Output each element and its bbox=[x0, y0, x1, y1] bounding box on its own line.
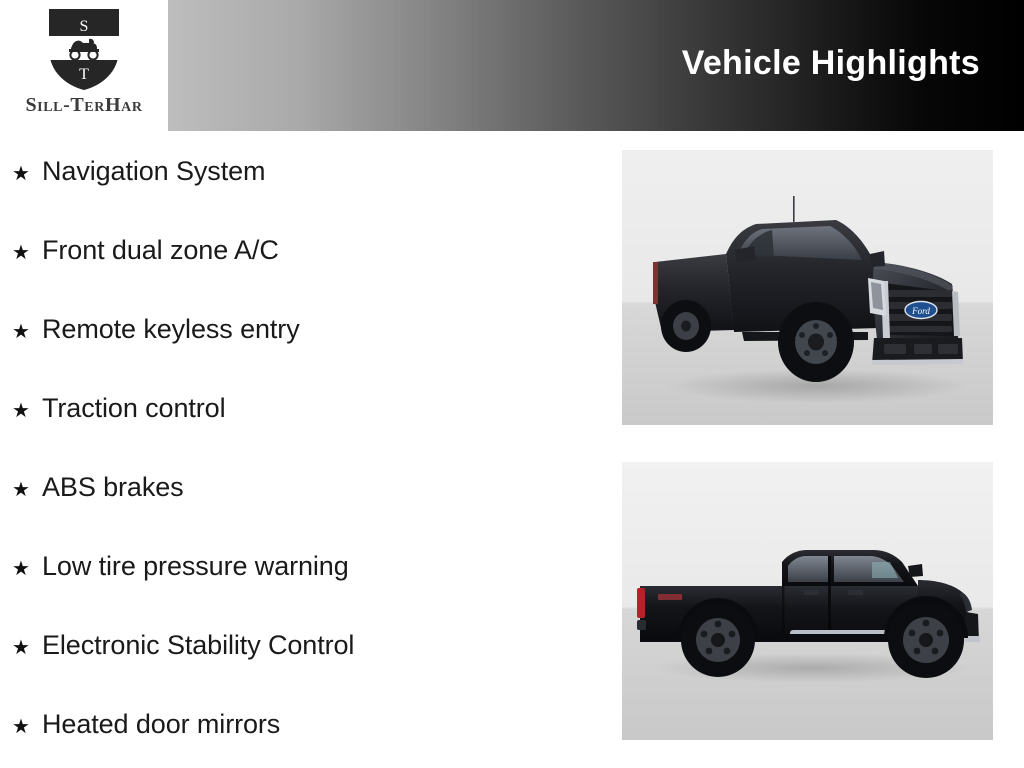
svg-text:T: T bbox=[79, 66, 89, 83]
star-bullet-icon: ★ bbox=[12, 638, 42, 658]
svg-text:Ford: Ford bbox=[911, 306, 930, 316]
truck-side-profile-illustration bbox=[622, 462, 993, 740]
truck-front-quarter-illustration: Ford bbox=[622, 150, 993, 425]
list-item: ★ Navigation System bbox=[12, 158, 265, 188]
wheel-front bbox=[888, 602, 964, 678]
star-bullet-icon: ★ bbox=[12, 322, 42, 342]
shield-logo-icon: S T bbox=[45, 5, 123, 93]
star-bullet-icon: ★ bbox=[12, 559, 42, 579]
list-item-label: ABS brakes bbox=[42, 474, 184, 501]
taillight bbox=[637, 588, 645, 618]
star-bullet-icon: ★ bbox=[12, 717, 42, 737]
wheel-rear bbox=[661, 300, 711, 352]
wheel-front bbox=[778, 302, 854, 382]
page-title: Vehicle Highlights bbox=[682, 44, 980, 83]
vehicle-photo-side-profile[interactable] bbox=[622, 462, 993, 740]
list-item-label: Low tire pressure warning bbox=[42, 553, 349, 580]
wheel-rear bbox=[681, 603, 755, 677]
list-item: ★ Low tire pressure warning bbox=[12, 553, 349, 583]
list-item-label: Remote keyless entry bbox=[42, 316, 300, 343]
list-item: ★ Remote keyless entry bbox=[12, 316, 300, 346]
vehicle-highlights-list: ★ Navigation System ★ Front dual zone A/… bbox=[0, 131, 600, 768]
page-header: S T Sill-TerHar Vehicle Highlights bbox=[0, 0, 1024, 131]
star-bullet-icon: ★ bbox=[12, 243, 42, 263]
svg-text:S: S bbox=[80, 18, 89, 35]
list-item-label: Electronic Stability Control bbox=[42, 632, 354, 659]
list-item: ★ Heated door mirrors bbox=[12, 711, 280, 741]
dealer-wordmark: Sill-TerHar bbox=[25, 94, 142, 117]
list-item: ★ Front dual zone A/C bbox=[12, 237, 279, 267]
list-item-label: Navigation System bbox=[42, 158, 265, 185]
vehicle-photo-front-three-quarter[interactable]: Ford bbox=[622, 150, 993, 425]
list-item: ★ Electronic Stability Control bbox=[12, 632, 354, 662]
dealer-logo[interactable]: S T Sill-TerHar bbox=[0, 0, 168, 131]
list-item: ★ ABS brakes bbox=[12, 474, 184, 504]
list-item: ★ Traction control bbox=[12, 395, 225, 425]
star-bullet-icon: ★ bbox=[12, 164, 42, 184]
star-bullet-icon: ★ bbox=[12, 401, 42, 421]
list-item-label: Front dual zone A/C bbox=[42, 237, 279, 264]
list-item-label: Heated door mirrors bbox=[42, 711, 280, 738]
list-item-label: Traction control bbox=[42, 395, 225, 422]
star-bullet-icon: ★ bbox=[12, 480, 42, 500]
